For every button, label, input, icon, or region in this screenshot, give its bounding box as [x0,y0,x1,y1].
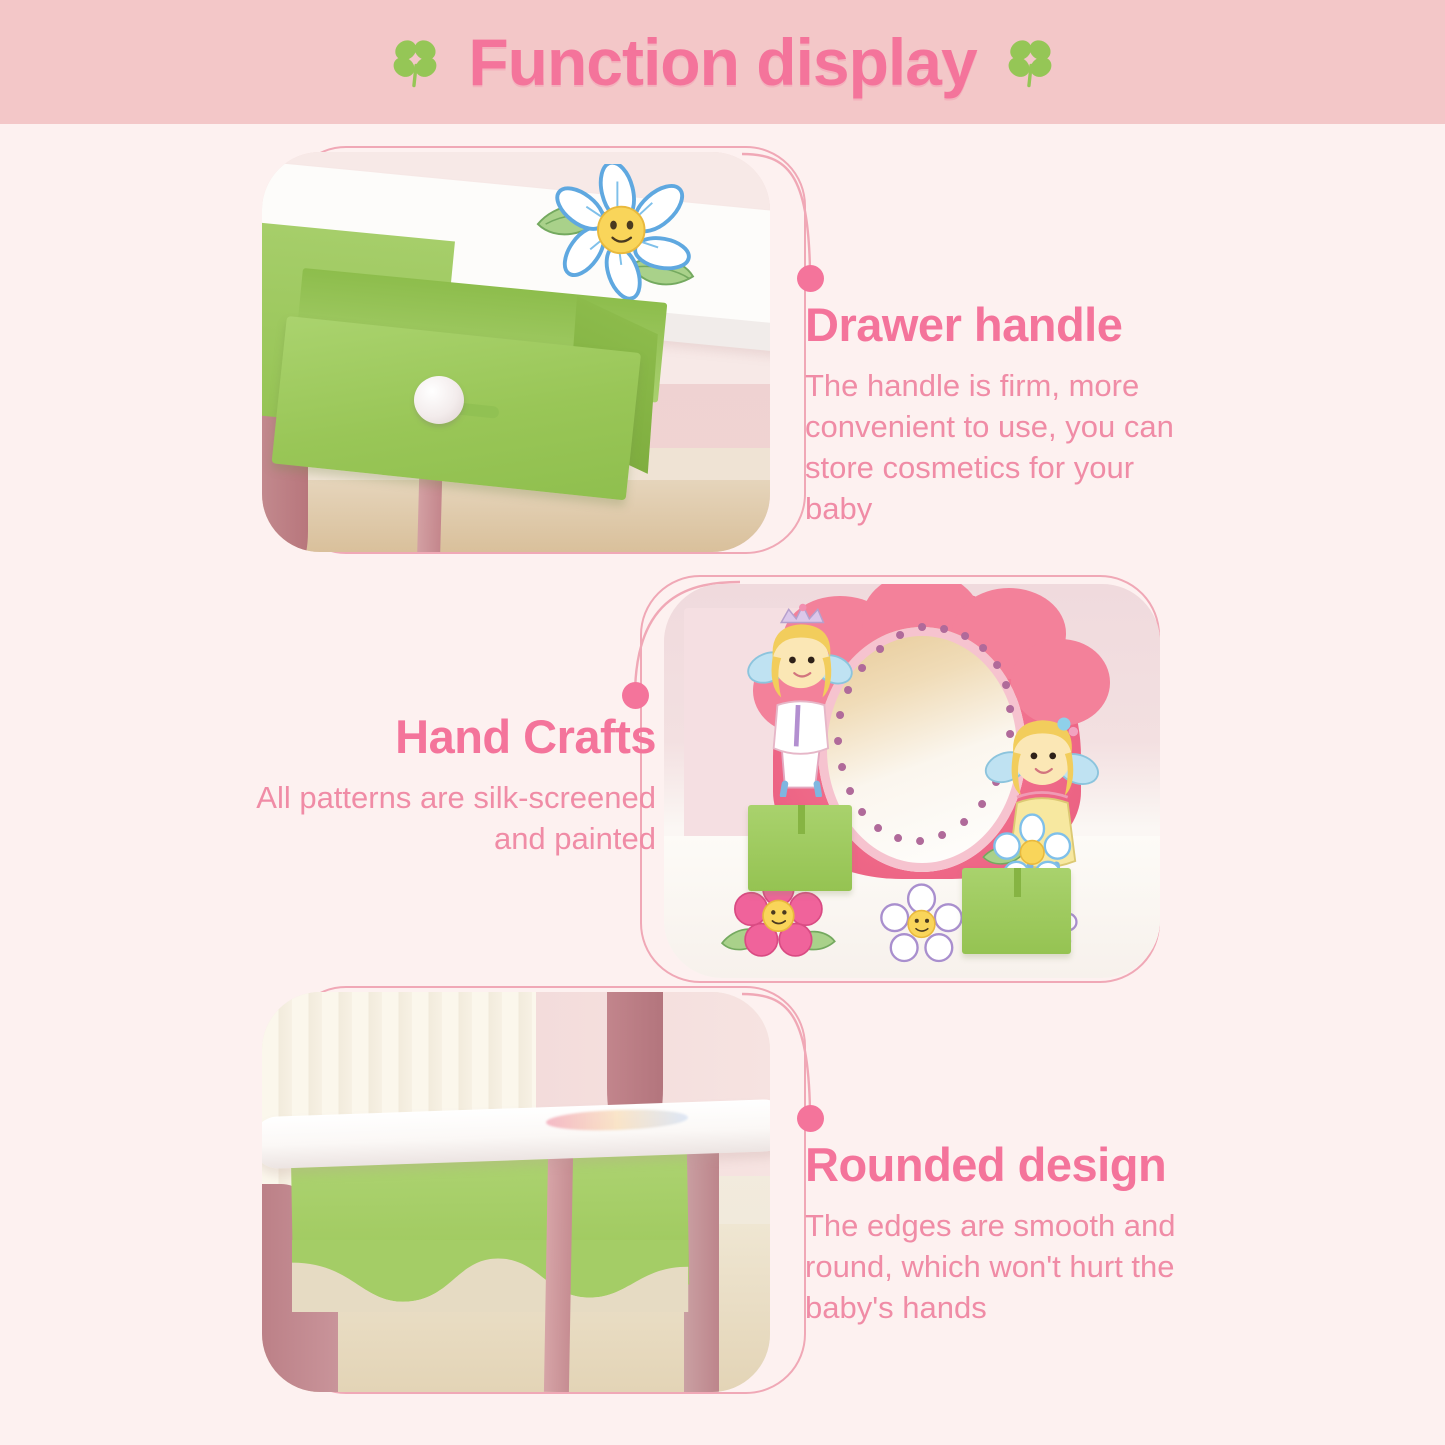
feature-text-block-2: Hand Crafts All patterns are silk-screen… [252,712,656,860]
clover-icon-left [388,33,442,91]
connector-dot-3 [797,1105,824,1132]
feature-image-drawer-handle [262,152,770,552]
feature-description-hand-crafts: All patterns are silk-screened and paint… [252,778,656,860]
infographic-page: Function display [0,0,1445,1445]
feature-text-block-3: Rounded design The edges are smooth and … [805,1140,1197,1329]
feature-title-drawer-handle: Drawer handle [805,300,1195,350]
fairy-figure-left-icon [733,600,867,797]
feature-image-rounded-design [262,992,770,1392]
feature-text-block-1: Drawer handle The handle is firm, more c… [805,300,1195,529]
feature-title-rounded-design: Rounded design [805,1140,1197,1190]
feature-title-hand-crafts: Hand Crafts [252,712,656,762]
scallop-edge-shape [292,1240,688,1312]
feature-description-drawer-handle: The handle is firm, more convenient to u… [805,366,1195,530]
feature-description-rounded-design: The edges are smooth and round, which wo… [805,1206,1197,1329]
feature-image-hand-crafts [664,584,1160,978]
page-title: Function display [468,29,976,95]
header-band: Function display [0,0,1445,124]
clover-icon-right [1003,33,1057,91]
connector-dot-1 [797,265,824,292]
connector-dot-2 [622,682,649,709]
